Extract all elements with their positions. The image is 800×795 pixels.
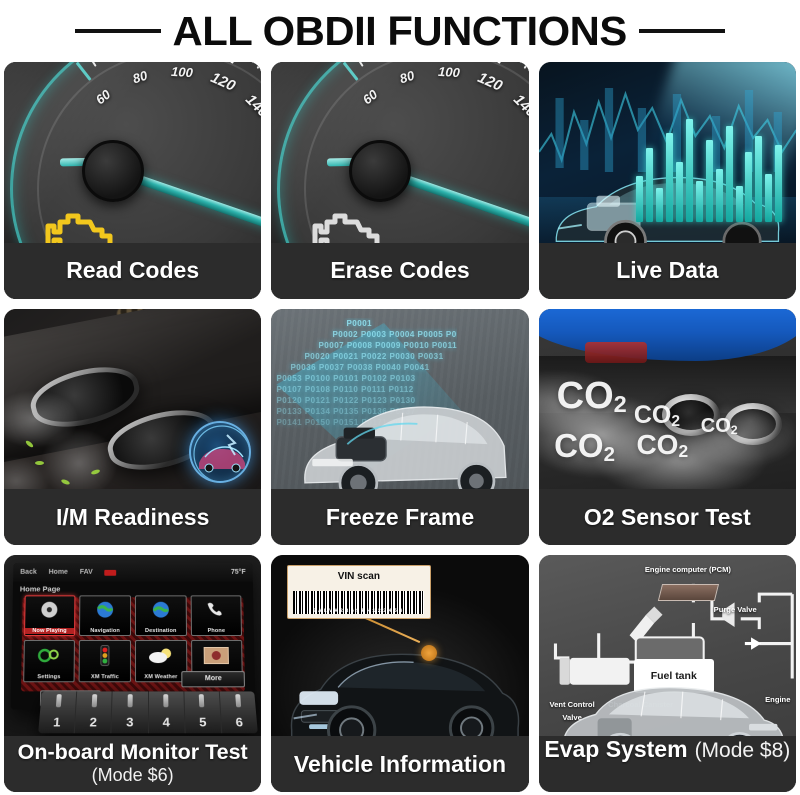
live-data-bar — [696, 181, 703, 222]
gear-icon — [38, 647, 60, 670]
gauge-hub-icon — [82, 140, 144, 202]
leaf-icon — [35, 461, 44, 465]
preset-button-4[interactable]: 4 — [149, 691, 186, 733]
live-data-bar — [666, 133, 673, 222]
head-unit-topbar: Back Home FAV 75°F — [13, 563, 253, 582]
live-data-bar — [736, 186, 743, 222]
vin-digits: SALVA2BG9FH123456 — [293, 608, 424, 614]
disc-icon — [39, 601, 59, 626]
card-title: I/M Readiness — [56, 504, 209, 531]
vin-scan-title: VIN scan — [291, 571, 427, 582]
gauge-number: 100 — [438, 64, 461, 80]
emissions-badge-icon — [189, 421, 251, 483]
live-data-bar — [636, 176, 643, 222]
co2-label: CO2 — [636, 429, 688, 461]
card-title: Freeze Frame — [326, 504, 474, 531]
tile-label: XM Traffic — [80, 674, 130, 680]
card-caption: Evap System (Mode $8) — [539, 736, 796, 792]
preset-button-2[interactable]: 2 — [75, 691, 113, 733]
header-rule-left-icon — [75, 29, 161, 33]
tile-phone[interactable]: Phone — [190, 596, 242, 637]
card-caption: O2 Sensor Test — [539, 489, 796, 545]
card-subtitle: (Mode $6) — [92, 765, 174, 786]
purge-valve-label: Purge Valve — [714, 605, 757, 614]
function-card-o2-sensor-test[interactable]: CO2 CO2 CO2 CO2 CO2 O2 Sensor Test — [539, 309, 796, 546]
tile-label: XM Weather — [136, 674, 186, 680]
obd-functions-poster: ALL OBDII FUNCTIONS 60801001201401601802… — [0, 0, 800, 795]
card-caption: I/M Readiness — [4, 489, 261, 545]
card-caption: On-board Monitor Test (Mode $6) — [4, 736, 261, 792]
preset-button-6[interactable]: 6 — [220, 691, 258, 733]
card-caption: Read Codes — [4, 243, 261, 299]
live-data-bar — [706, 140, 713, 222]
preset-button-3[interactable]: 3 — [112, 691, 149, 733]
topbar-temperature: 75°F — [231, 569, 246, 576]
head-unit-screen[interactable]: Back Home FAV 75°F Home Page Now P — [10, 563, 255, 709]
tile-label: Now Playing — [24, 629, 74, 635]
card-title: Vehicle Information — [294, 751, 506, 778]
function-card-evap-system[interactable]: Fuel tank Engine computer (PCM) Purge Va… — [539, 555, 796, 792]
card-title: Evap System — [544, 736, 687, 763]
tile-label: Phone — [191, 629, 241, 635]
live-data-bar — [755, 136, 762, 222]
dtc-code-line: P0002 P0003 P0004 P0005 P0006 — [276, 329, 456, 340]
tile-now-playing[interactable]: Now Playing — [23, 596, 75, 637]
card-caption: Live Data — [539, 243, 796, 299]
card-title: On-board Monitor Test — [18, 742, 248, 764]
live-data-bar — [646, 148, 653, 222]
function-card-read-codes[interactable]: 6080100120140160180200220240 Read Codes — [4, 62, 261, 299]
preset-button-5[interactable]: 5 — [184, 691, 222, 733]
function-card-freeze-frame[interactable]: P0001P0002 P0003 P0004 P0005 P0006P0007 … — [271, 309, 528, 546]
card-caption: Freeze Frame — [271, 489, 528, 545]
dtc-code-line: P0020 P0021 P0022 P0030 P0031 — [276, 351, 456, 362]
tile-label: Settings — [24, 674, 74, 680]
xray-car-icon — [292, 370, 513, 507]
card-title: Erase Codes — [330, 257, 469, 284]
card-title: Read Codes — [66, 257, 199, 284]
function-card-erase-codes[interactable]: 6080100120140160180200220240 Erase Codes — [271, 62, 528, 299]
dtc-code-line: P0007 P0008 P0009 P0010 P0011 — [276, 340, 456, 351]
topbar-home-label[interactable]: Home — [48, 569, 67, 576]
tile-xm-traffic[interactable]: XM Traffic — [79, 641, 131, 683]
preset-button-1[interactable]: 1 — [38, 691, 77, 733]
tile-destination[interactable]: Destination — [135, 596, 187, 637]
co2-label: CO2 — [634, 401, 680, 430]
pcm-label: Engine computer (PCM) — [645, 565, 731, 574]
topbar-fav-label[interactable]: FAV — [79, 569, 92, 576]
card-caption: Vehicle Information — [271, 736, 528, 792]
co2-label: CO2 — [554, 427, 615, 465]
live-data-bar — [765, 174, 772, 222]
vin-pointer-dot-icon — [421, 645, 437, 661]
vin-scan-panel: VIN scan SALVA2BG9FH123456 — [287, 565, 431, 619]
barcode-icon: SALVA2BG9FH123456 — [293, 591, 424, 614]
live-data-bar — [686, 119, 693, 222]
photo-icon — [203, 647, 229, 670]
co2-label: CO2 — [701, 415, 738, 438]
gauge-number: 100 — [171, 64, 194, 80]
live-data-bar — [745, 152, 752, 222]
card-title: O2 Sensor Test — [584, 504, 751, 531]
header-rule-right-icon — [639, 29, 725, 33]
page-title: ALL OBDII FUNCTIONS — [173, 8, 627, 55]
gauge-hub-icon — [349, 140, 411, 202]
tile-navigation[interactable]: Navigation — [79, 596, 131, 637]
flow-arrow-icon — [751, 638, 761, 650]
globe-icon — [95, 601, 115, 626]
card-caption: Erase Codes — [271, 243, 528, 299]
page-header: ALL OBDII FUNCTIONS — [0, 0, 800, 58]
function-grid: 6080100120140160180200220240 Read Codes — [4, 62, 796, 792]
function-card-vehicle-information[interactable]: VIN scan SALVA2BG9FH123456 — [271, 555, 528, 792]
data-bars — [636, 102, 778, 222]
live-data-bar — [656, 188, 663, 222]
function-card-onboard-monitor-test[interactable]: Back Home FAV 75°F Home Page Now P — [4, 555, 261, 792]
tile-xm-weather[interactable]: XM Weather — [135, 641, 187, 683]
preset-button-row: 123456 — [38, 691, 258, 733]
tile-label: Navigation — [80, 629, 130, 635]
dtc-code-line: P0001 — [276, 318, 456, 329]
card-title: Live Data — [616, 257, 718, 284]
live-data-bar — [726, 126, 733, 222]
globe-icon — [150, 601, 170, 626]
topbar-back-label[interactable]: Back — [20, 569, 37, 576]
function-card-im-readiness[interactable]: I/M Readiness — [4, 309, 261, 546]
mil-indicator-icon — [104, 570, 116, 576]
cloud-sun-icon — [147, 647, 173, 670]
co2-label: CO2 — [557, 375, 627, 418]
traffic-light-icon — [99, 645, 111, 672]
tile-settings[interactable]: Settings — [23, 641, 75, 683]
card-subtitle: (Mode $8) — [695, 739, 791, 763]
live-data-bar — [716, 169, 723, 222]
function-card-live-data[interactable]: Live Data — [539, 62, 796, 299]
tile-label: Destination — [136, 629, 186, 635]
head-unit-more-button[interactable]: More — [181, 671, 245, 687]
live-data-bar — [775, 145, 782, 222]
phone-icon — [206, 601, 226, 626]
live-data-bar — [676, 162, 683, 222]
pcm-module-icon — [658, 584, 719, 601]
